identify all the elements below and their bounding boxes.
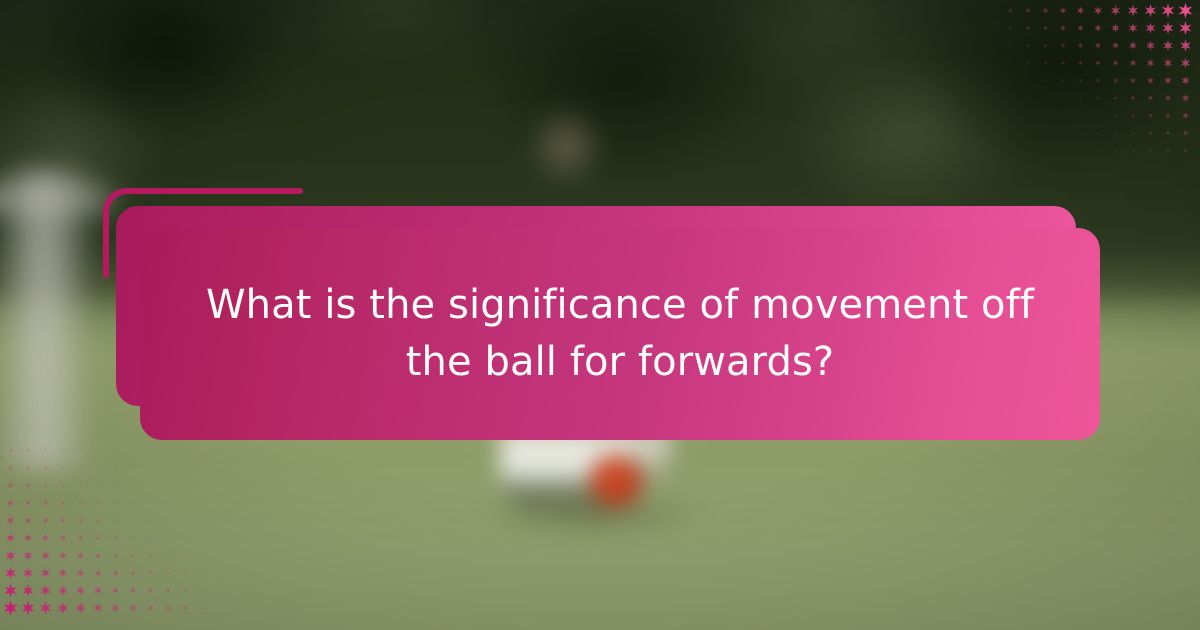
- question-card-screenshot: What is the significance of movement off…: [0, 0, 1200, 630]
- question-card: What is the significance of movement off…: [140, 228, 1100, 440]
- card-stack: What is the significance of movement off…: [0, 0, 1200, 630]
- question-headline: What is the significance of movement off…: [140, 277, 1100, 391]
